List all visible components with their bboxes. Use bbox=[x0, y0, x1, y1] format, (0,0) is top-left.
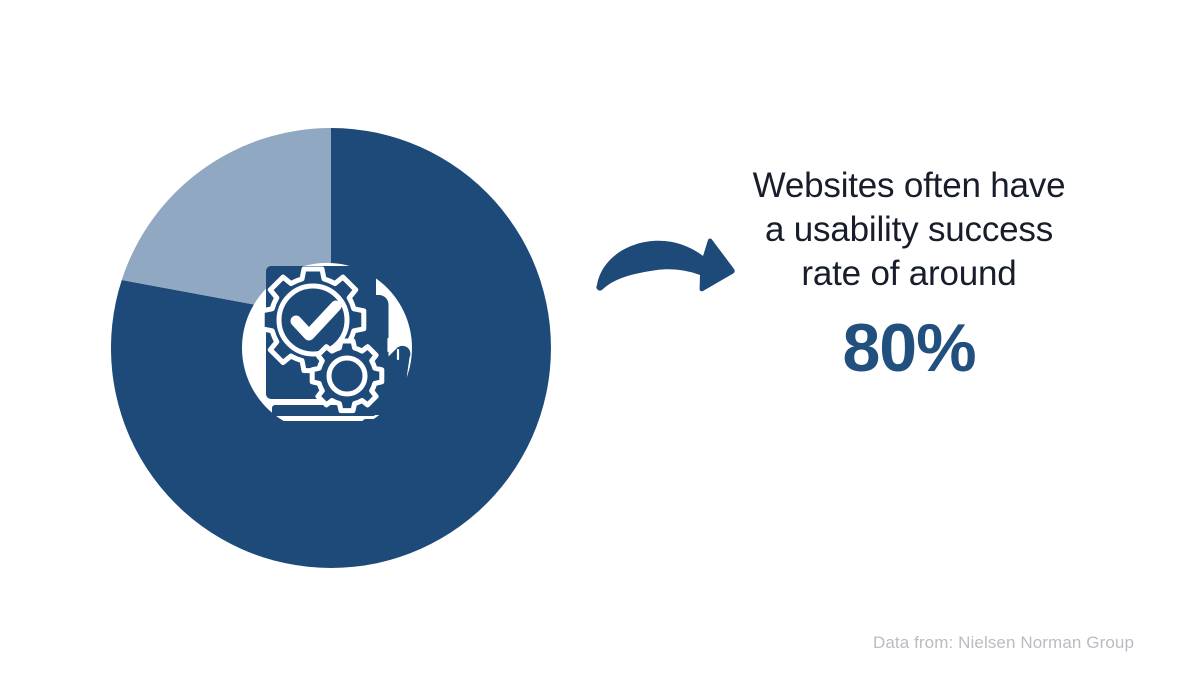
usability-success-infographic: Websites often have a usability success … bbox=[0, 0, 1200, 700]
tablet-gear-check-hand-icon bbox=[246, 255, 436, 445]
small-gear-icon bbox=[312, 341, 382, 411]
callout-block: Websites often have a usability success … bbox=[718, 164, 1100, 386]
donut-chart bbox=[111, 128, 551, 568]
callout-line-2: a usability success bbox=[718, 208, 1100, 252]
callout-statement: Websites often have a usability success … bbox=[718, 164, 1100, 296]
callout-percentage-value: 80% bbox=[718, 310, 1100, 386]
data-source-attribution: Data from: Nielsen Norman Group bbox=[873, 633, 1134, 653]
callout-line-1: Websites often have bbox=[718, 164, 1100, 208]
donut-center-icon-slot bbox=[246, 255, 436, 445]
tablet-bar-lower bbox=[266, 421, 376, 437]
callout-line-3: rate of around bbox=[718, 252, 1100, 296]
